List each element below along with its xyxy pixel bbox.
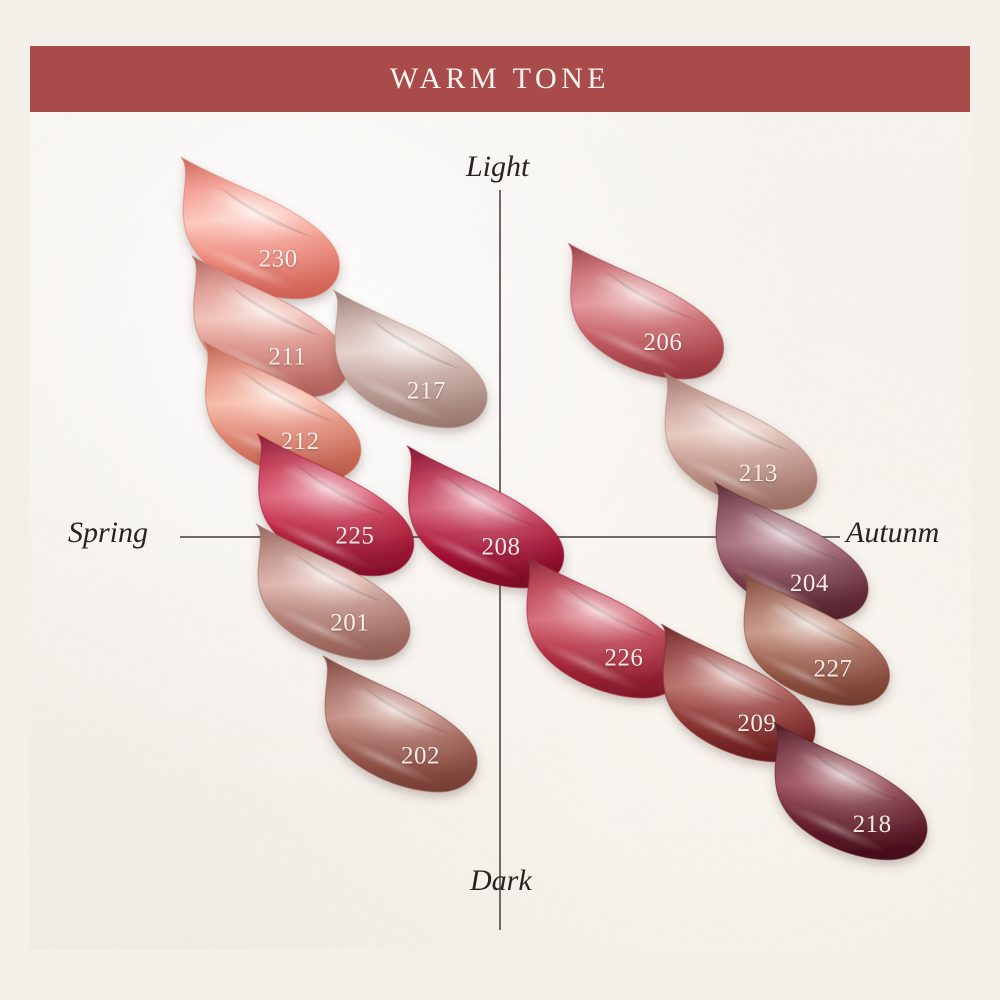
- swatch-shape: [290, 649, 500, 809]
- axis-label-dark: Dark: [470, 864, 532, 898]
- swatch-shape: [536, 237, 746, 396]
- lipstick-swatch: 202: [290, 649, 500, 809]
- chart-canvas: Light Dark Spring Autunm 230211212217206…: [30, 112, 970, 950]
- swatch-shape: [740, 715, 951, 876]
- header-banner: WARM TONE: [30, 46, 970, 112]
- swatch-gloss: [540, 243, 741, 392]
- swatch-gloss: [743, 722, 945, 873]
- lipstick-shade-chart-page: WARM TONE Light Dark Spring Autunm 23021…: [0, 0, 1000, 1000]
- lipstick-swatch: 206: [536, 237, 746, 396]
- swatch-gloss: [293, 656, 494, 806]
- axis-label-light: Light: [466, 150, 529, 184]
- lipstick-swatch: 218: [740, 715, 951, 876]
- axis-label-spring: Spring: [68, 516, 148, 550]
- page-title: WARM TONE: [390, 62, 610, 96]
